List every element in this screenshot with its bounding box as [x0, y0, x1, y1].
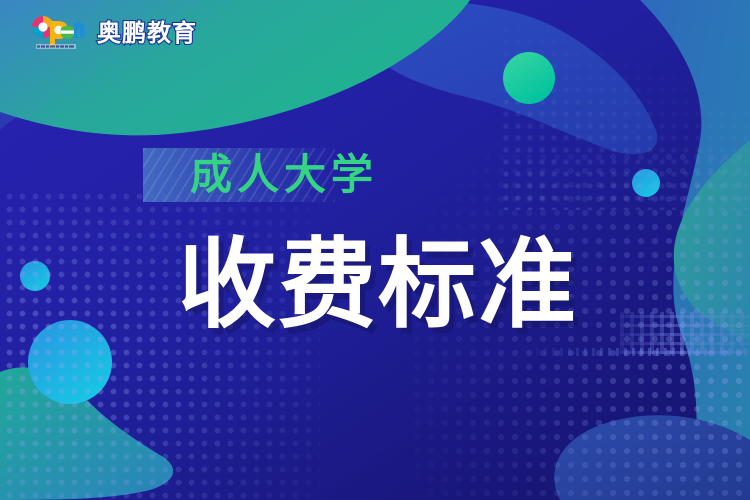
grid-bars-decoration-2 [520, 348, 750, 356]
cyan-circle-large-left [28, 320, 112, 404]
headline-text: 收费标准 [178, 232, 578, 336]
brand-wordmark: 奥鹏教育 [97, 22, 197, 46]
open-logo-mark [30, 12, 88, 56]
brand-logo[interactable]: 奥鹏教育 [30, 12, 197, 56]
cyan-circle-small-left [20, 261, 50, 291]
promo-banner: 奥鹏教育 成人大学 收费标准 [0, 0, 750, 500]
green-circle-large [503, 52, 555, 104]
subtitle-text: 成人大学 [190, 150, 378, 200]
cyan-circle-right [632, 169, 660, 197]
brand-wordmark-text: 奥鹏教育 [97, 20, 197, 47]
